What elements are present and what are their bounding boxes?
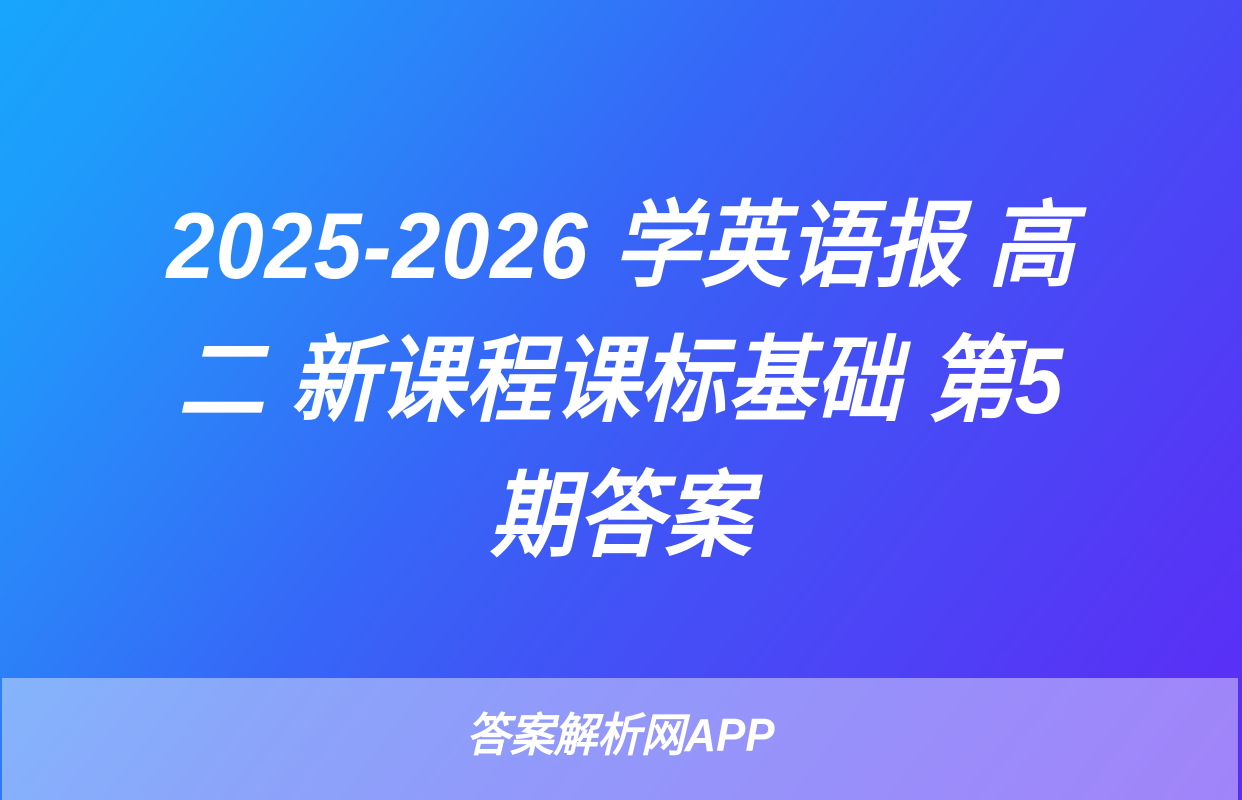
title-line-2: 二 新课程课标基础 第5 [107,313,1136,448]
promo-banner: 2025-2026 学英语报 高 二 新课程课标基础 第5 期答案 答案解析网A… [0,0,1242,800]
banner-title: 2025-2026 学英语报 高 二 新课程课标基础 第5 期答案 [0,178,1242,583]
title-line-1: 2025-2026 学英语报 高 [107,178,1136,313]
footer-band: 答案解析网APP [2,678,1238,800]
title-line-3: 期答案 [107,448,1136,583]
app-brand-label: 答案解析网APP [466,710,774,760]
